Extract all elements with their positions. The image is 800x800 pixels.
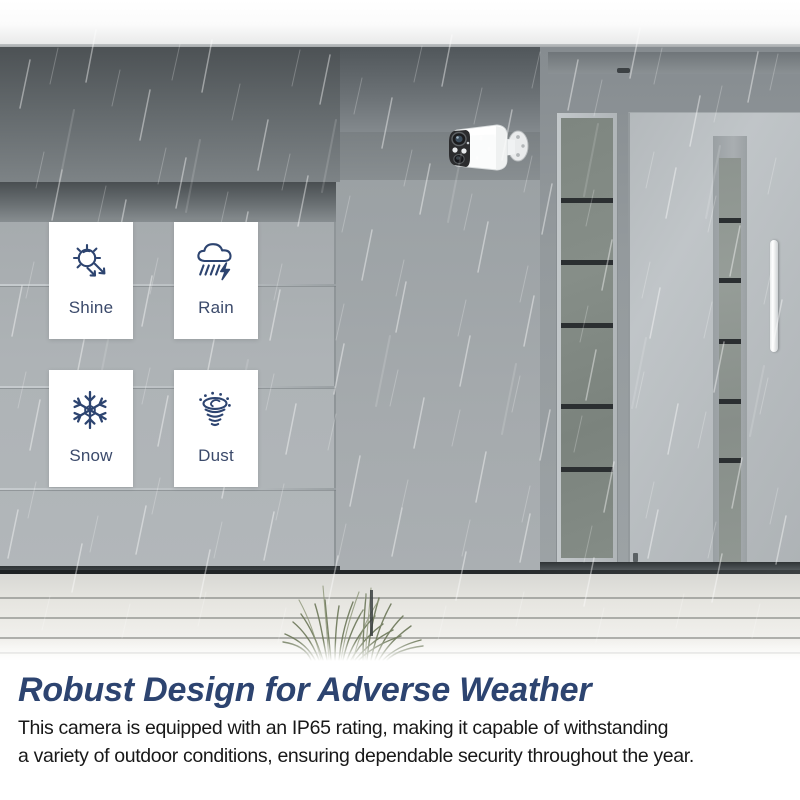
page-title: Robust Design for Adverse Weather — [18, 670, 782, 710]
product-feature-image: Shine Rain — [0, 0, 800, 800]
feature-card-dust[interactable]: Dust — [174, 370, 258, 487]
body-copy: This camera is equipped with an IP65 rat… — [18, 714, 782, 770]
body-line-1: This camera is equipped with an IP65 rat… — [18, 714, 782, 742]
snowflake-icon — [68, 388, 114, 432]
tornado-dust-icon — [193, 388, 239, 432]
photo-scene: Shine Rain — [0, 0, 800, 662]
feature-card-snow[interactable]: Snow — [49, 370, 133, 487]
marketing-copy: Robust Design for Adverse Weather This c… — [0, 662, 800, 800]
sun-icon — [68, 240, 114, 284]
feature-label-snow: Snow — [69, 446, 112, 466]
ground-fade — [0, 640, 800, 662]
body-line-2: a variety of outdoor conditions, ensurin… — [18, 742, 782, 770]
feature-label-rain: Rain — [198, 298, 234, 318]
feature-card-shine[interactable]: Shine — [49, 222, 133, 339]
feature-card-rain[interactable]: Rain — [174, 222, 258, 339]
rain-cloud-icon — [193, 240, 239, 284]
feature-label-dust: Dust — [198, 446, 234, 466]
feature-label-shine: Shine — [69, 298, 113, 318]
feature-card-grid: Shine Rain — [0, 0, 800, 662]
